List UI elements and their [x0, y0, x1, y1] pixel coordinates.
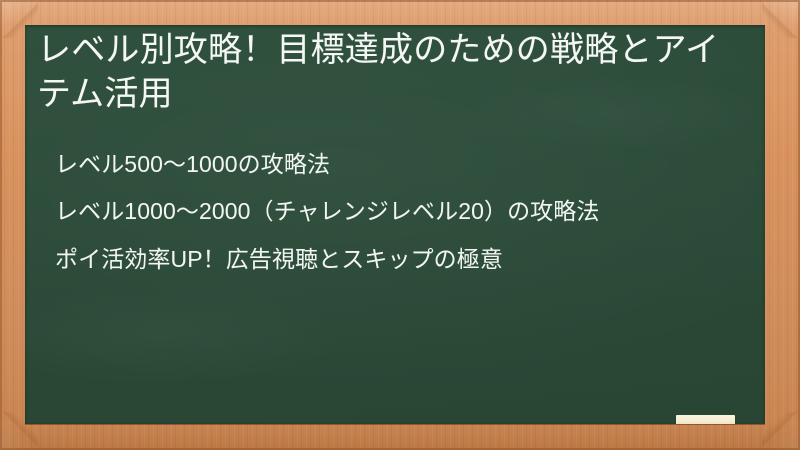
frame-corner-top-right	[762, 0, 800, 38]
outline-list: レベル500〜1000の攻略法 レベル1000〜2000（チャレンジレベル20）…	[55, 149, 755, 274]
list-item: レベル1000〜2000（チャレンジレベル20）の攻略法	[55, 196, 755, 226]
slide-title: レベル別攻略！目標達成のための戦略とアイテム活用	[37, 28, 743, 116]
list-item: ポイ活効率UP！広告視聴とスキップの極意	[55, 244, 755, 274]
chalkboard-surface: レベル別攻略！目標達成のための戦略とアイテム活用 レベル500〜1000の攻略法…	[25, 25, 765, 424]
list-item: レベル500〜1000の攻略法	[55, 149, 755, 179]
frame-corner-bottom-right	[762, 412, 800, 450]
chalk-eraser-icon	[676, 415, 735, 424]
chalkboard-frame: レベル別攻略！目標達成のための戦略とアイテム活用 レベル500〜1000の攻略法…	[0, 0, 800, 450]
frame-bottom-rail-shadow	[0, 422, 800, 450]
frame-top-rail-highlight	[0, 0, 800, 26]
